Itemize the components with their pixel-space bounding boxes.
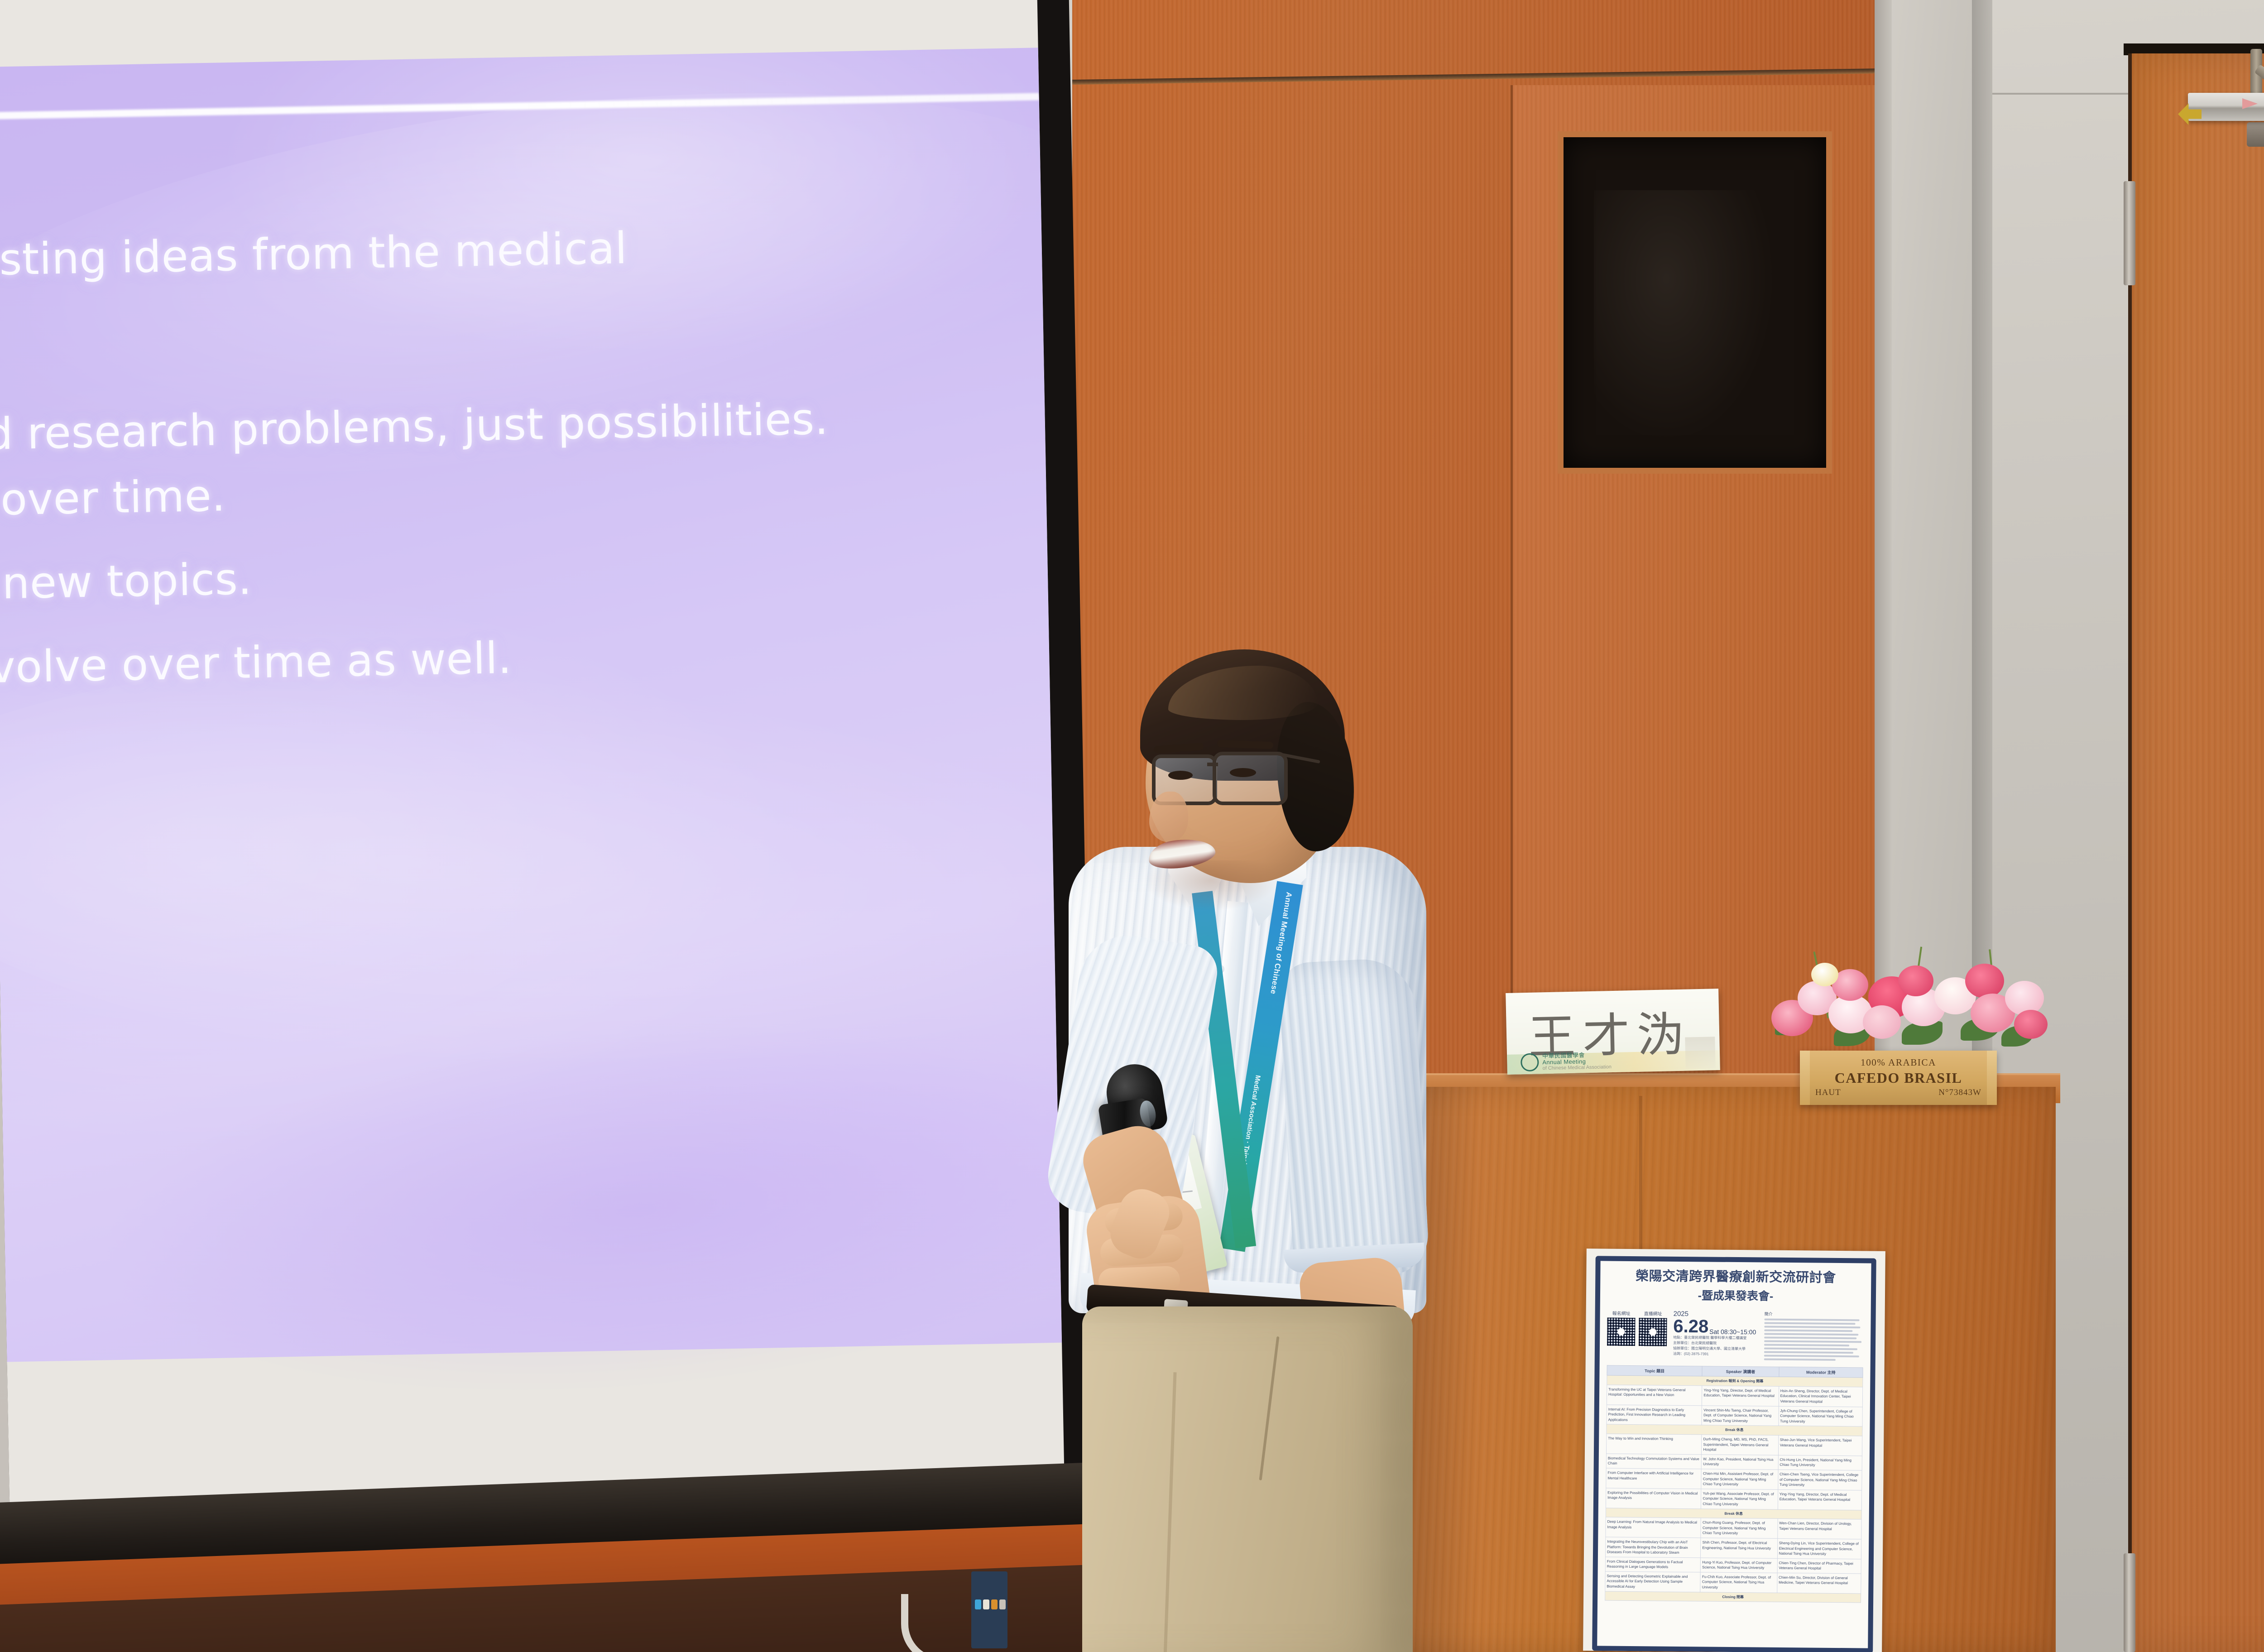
table-row: Exploring the Possibilities of Computer … — [1606, 1488, 1861, 1510]
table-row: Integrating the Neurovestibulary Chip wi… — [1605, 1537, 1861, 1559]
right-arm-sleeve — [1278, 957, 1430, 1281]
av-port — [975, 1599, 981, 1609]
slide-background-wave — [81, 982, 1065, 1438]
eyeglasses-bridge — [1207, 763, 1218, 766]
nameplate-seal-icon — [1521, 1053, 1539, 1071]
poster-border: 榮陽交清跨界醫療創新交流研討會 -暨成果發表會- 報名網址 直播網址 — [1592, 1256, 1876, 1652]
poster-blurb: 簡介 — [1764, 1311, 1864, 1363]
av-wall-plate — [971, 1571, 1007, 1648]
cell-topic: Deep Learning: From Natural Image Analys… — [1606, 1517, 1701, 1538]
table-row: The Way to Win and Innovation ThinkingDu… — [1606, 1434, 1862, 1456]
col-moderator: Moderator 主持 — [1779, 1367, 1863, 1378]
cell-moderator: Hsin-An Sheng, Director, Dept. of Medica… — [1779, 1386, 1863, 1407]
cell-topic: Exploring the Possibilities of Computer … — [1606, 1488, 1701, 1509]
table-row: Internal AI: From Precision Diagnostics … — [1607, 1405, 1862, 1427]
poster-blurb-heading: 簡介 — [1765, 1311, 1864, 1318]
nameplate-logo: 中華民國醫學會 Annual Meeting of Chinese Medica… — [1521, 1052, 1612, 1071]
door-hinge-lower — [2124, 1553, 2135, 1652]
door-closer-pin — [2247, 122, 2264, 147]
slide-text-line-3: e over time. — [0, 470, 226, 526]
projected-slide: resting ideas from the medical ed resear… — [0, 48, 1062, 1362]
cell-topic: Transforming the UC at Taipei Veterans G… — [1607, 1385, 1702, 1406]
poster-qr-group: 報名網址 直播網址 — [1607, 1310, 1667, 1346]
cell-moderator: Chi-Hung Lin, President, National Yang M… — [1778, 1455, 1862, 1470]
cell-moderator: Shao-Jun Wang, Vice Superintendent, Taip… — [1778, 1435, 1862, 1455]
conference-photo-scene: resting ideas from the medical ed resear… — [0, 0, 2264, 1652]
event-poster: 榮陽交清跨界醫療創新交流研討會 -暨成果發表會- 報名網址 直播網址 — [1583, 1249, 1885, 1652]
poster-date: 6.28 — [1673, 1318, 1708, 1335]
poster-qr-caption: 報名網址 — [1607, 1310, 1636, 1317]
table-row: Sensing and Detecting Geometric Explaina… — [1605, 1571, 1861, 1594]
projection-screen-frame: resting ideas from the medical ed resear… — [0, 0, 1098, 1575]
cell-speaker: Ying-Ying Yang, Director, Dept. of Medic… — [1702, 1386, 1779, 1406]
cell-moderator: Jyh-Chung Chen, Superintendent, College … — [1779, 1406, 1863, 1426]
cell-moderator: Ying-Ying Yang, Director, Dept. of Medic… — [1778, 1489, 1862, 1510]
slide-text-line-4: e new topics. — [0, 553, 252, 610]
room-door[interactable] — [2128, 53, 2264, 1652]
table-row: From Computer Interface with Artificial … — [1606, 1468, 1862, 1490]
cell-moderator: Chien-Ting Chen, Director of Pharmacy, T… — [1777, 1558, 1861, 1574]
cell-topic: Internal AI: From Precision Diagnostics … — [1607, 1405, 1702, 1426]
eye-right — [1230, 768, 1256, 777]
cell-moderator: Chien-Chen Tseng, Vice Superintendent, C… — [1778, 1470, 1862, 1490]
cell-moderator: Wen-Chan Lien, Director, Division of Uro… — [1777, 1518, 1861, 1539]
speaker-person: Annual Meeting of Chinese Medical Associ… — [1032, 648, 1485, 1652]
door-hinge-upper — [2124, 181, 2135, 285]
qr-code-icon[interactable] — [1607, 1318, 1636, 1346]
poster-content: 榮陽交清跨界醫療創新交流研討會 -暨成果發表會- 報名網址 直播網址 — [1604, 1268, 1864, 1646]
cell-topic: Integrating the Neurovestibulary Chip wi… — [1605, 1537, 1701, 1558]
poster-schedule-table: Topic 題目 Speaker 演講者 Moderator 主持 Regist… — [1605, 1365, 1863, 1603]
table-section-label: Closing 閉幕 — [1605, 1591, 1861, 1603]
crate-text-brand: CAFEDO BRASIL — [1800, 1070, 1997, 1086]
cell-speaker: Chien-Hsi Min, Assistant Professor, Dept… — [1701, 1469, 1778, 1489]
speaker-nameplate: 王才沩 中華民國醫學會 Annual Meeting of Chinese Me… — [1506, 989, 1720, 1075]
crate-text-code: N°73843W — [1938, 1088, 1981, 1098]
table-row: Deep Learning: From Natural Image Analys… — [1606, 1517, 1861, 1539]
poster-date-block: 2025 6.28 Sat 08:30~15:00 地點：臺北榮民總醫院 醫學科… — [1673, 1310, 1756, 1358]
flower-crate: 100% ARABICA CAFEDO BRASIL HAUT N°73843W — [1800, 1051, 1997, 1105]
trousers — [1082, 1306, 1413, 1652]
cell-topic: Biomedical Technology Commutation System… — [1606, 1454, 1702, 1469]
qr-code-icon[interactable] — [1639, 1318, 1667, 1346]
eyeglasses-right-lens — [1213, 752, 1288, 805]
col-speaker: Speaker 演講者 — [1702, 1366, 1779, 1377]
poster-detail-line: 洽詢：(02) 2875-7391 — [1673, 1351, 1756, 1358]
table-section-row: Closing 閉幕 — [1605, 1591, 1861, 1603]
av-port — [983, 1599, 989, 1609]
poster-qr-livestream: 直播網址 — [1639, 1310, 1667, 1346]
table-row: From Clinical Dialogues Generations to F… — [1605, 1557, 1861, 1574]
cell-speaker: Hung-Yi Kuo, Professor, Dept. of Compute… — [1701, 1558, 1777, 1573]
cell-moderator: Sheng-Dying Lin, Vice Superintendent, Co… — [1777, 1538, 1861, 1559]
eye-left — [1168, 771, 1193, 780]
cell-topic: From Computer Interface with Artificial … — [1606, 1468, 1702, 1489]
crate-text-arabica: 100% ARABICA — [1800, 1057, 1997, 1068]
table-row: Biomedical Technology Commutation System… — [1606, 1454, 1862, 1470]
cell-speaker: Shih Chen, Professor, Dept. of Electrica… — [1701, 1538, 1778, 1558]
flower-arrangement — [1766, 937, 2047, 1060]
cell-speaker: Yuh-pei Wang, Associate Professor, Dept.… — [1701, 1489, 1778, 1509]
cell-moderator: Chien-Min Su, Director, Division of Gene… — [1777, 1573, 1861, 1593]
av-port — [991, 1599, 998, 1609]
slide-text-line-5: evolve over time as well. — [0, 633, 512, 693]
cell-speaker: Vincent Shin-Mu Tseng, Chair Professor, … — [1702, 1406, 1779, 1426]
cell-speaker: Chun-Rong Guang, Professor, Dept. of Com… — [1701, 1518, 1778, 1538]
cell-speaker: W. John Kao, President, National Tsing H… — [1702, 1455, 1778, 1470]
av-port — [999, 1599, 1006, 1609]
poster-detail-lines: 地點：臺北榮民總醫院 醫學科學大樓二樓講堂 主辦單位：台北榮民總醫院 協辦單位：… — [1673, 1335, 1756, 1358]
poster-qr-caption: 直播網址 — [1639, 1310, 1667, 1317]
cell-speaker: Durh-Ming Cheng, MD, MS, PhD, FACS, Supe… — [1702, 1435, 1779, 1455]
projection-screen-surface: resting ideas from the medical ed resear… — [0, 0, 1065, 1539]
poster-qr-signup: 報名網址 — [1607, 1310, 1636, 1346]
crate-text-origin-row: HAUT N°73843W — [1800, 1088, 1997, 1098]
cell-topic: Sensing and Detecting Geometric Explaina… — [1605, 1571, 1701, 1592]
cell-topic: From Clinical Dialogues Generations to F… — [1605, 1557, 1701, 1572]
wall-speaker-grille-sheen — [1594, 190, 1775, 444]
chin-shadow — [1146, 860, 1277, 910]
poster-title: 榮陽交清跨界醫療創新交流研討會 — [1607, 1268, 1864, 1286]
table-row: Transforming the UC at Taipei Veterans G… — [1607, 1385, 1862, 1407]
poster-info-row: 報名網址 直播網址 2025 6.28 Sat 08:30~15:00 — [1607, 1310, 1864, 1363]
cell-topic: The Way to Win and Innovation Thinking — [1606, 1434, 1702, 1455]
cell-speaker: Fu-Chih Kuo, Associate Professor, Dept. … — [1700, 1572, 1777, 1593]
crate-text-haut: HAUT — [1815, 1088, 1841, 1098]
col-topic: Topic 題目 — [1607, 1365, 1703, 1376]
nose — [1149, 792, 1188, 842]
poster-subtitle: -暨成果發表會- — [1607, 1286, 1864, 1305]
poster-time: Sat 08:30~15:00 — [1709, 1328, 1756, 1336]
